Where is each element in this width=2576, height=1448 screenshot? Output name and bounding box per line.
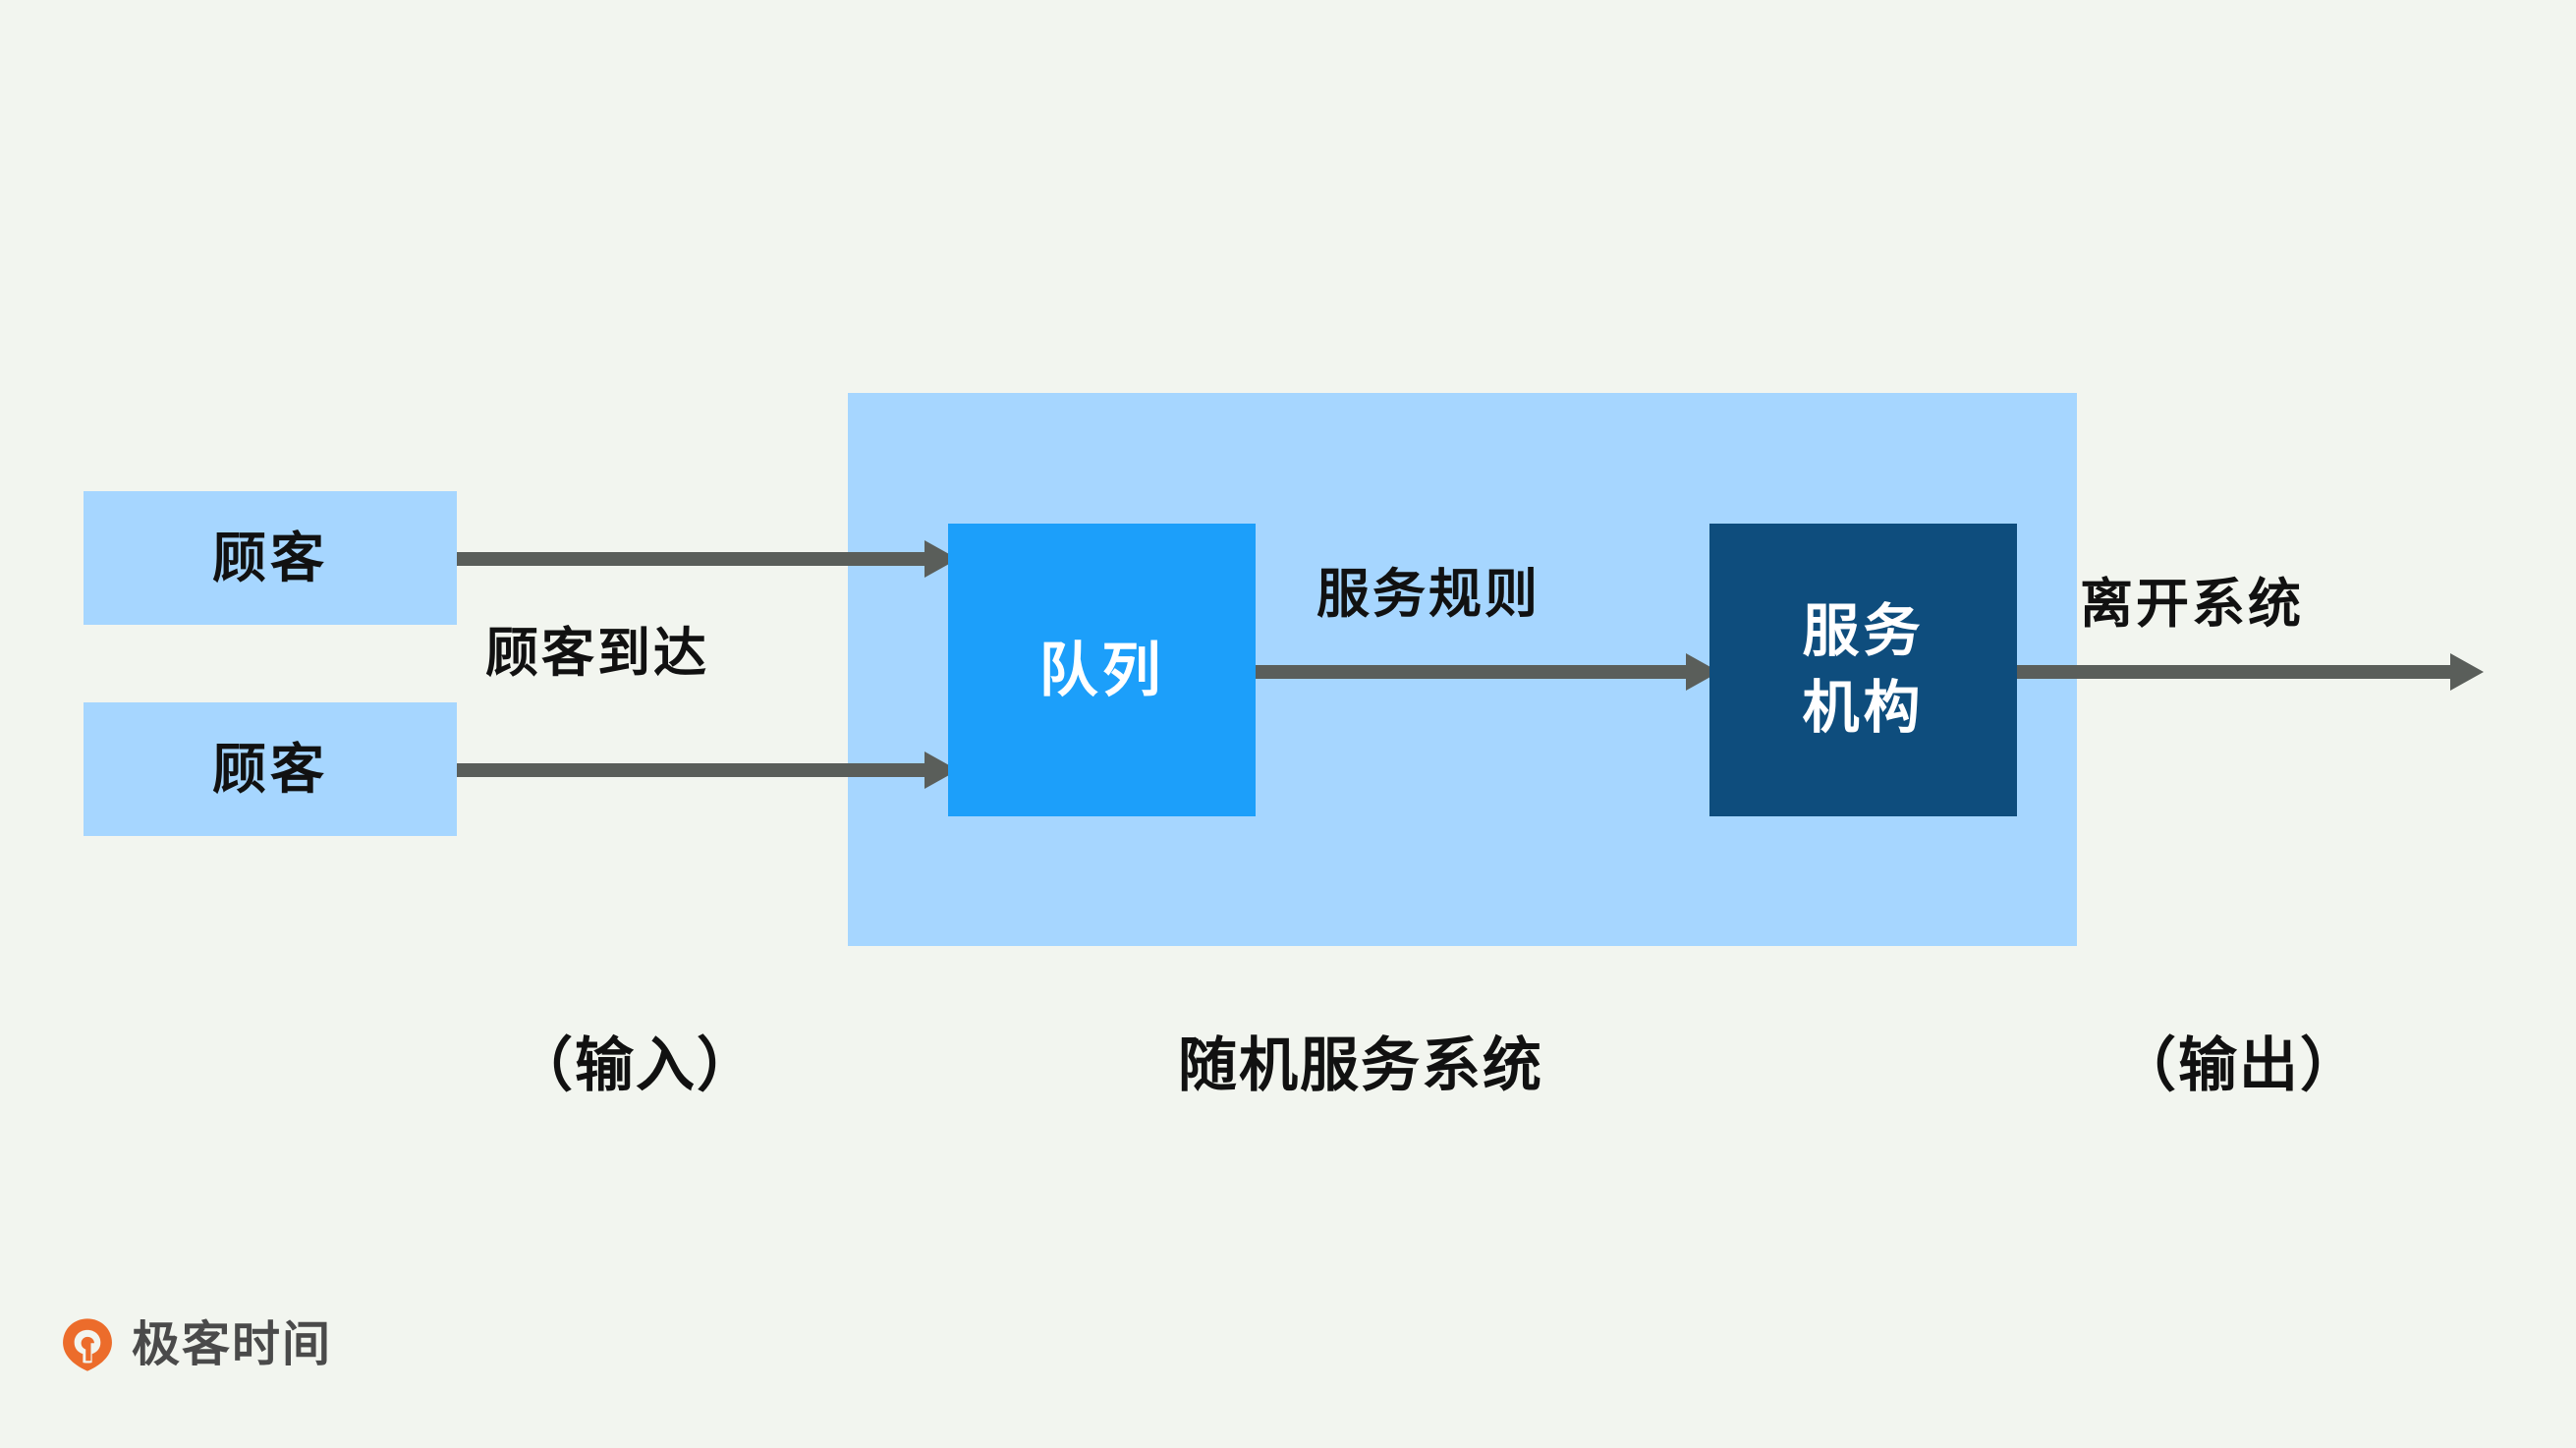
caption-random-service-system: 随机服务系统 <box>1178 1036 1543 1095</box>
caption-output: （输出） <box>2117 1036 2361 1095</box>
customer-box-2-label: 顾客 <box>212 743 328 797</box>
brand-name: 极客时间 <box>132 1321 332 1369</box>
flow-label-service-rule: 服务规则 <box>1316 568 1540 621</box>
geektime-logo-icon <box>59 1316 116 1373</box>
arrow-shaft <box>457 552 924 566</box>
brand-logo: 极客时间 <box>59 1316 332 1373</box>
arrow-shaft <box>2017 665 2450 679</box>
service-facility-label-line-2: 机构 <box>1802 670 1924 747</box>
flow-label-leave-system: 离开系统 <box>2080 578 2304 631</box>
queue-node: 队列 <box>948 524 1256 816</box>
queue-node-label: 队列 <box>1039 637 1165 704</box>
flow-label-customer-arrival: 顾客到达 <box>485 627 709 680</box>
customer-box-1-label: 顾客 <box>212 531 328 585</box>
arrow-head-icon <box>2450 653 2484 691</box>
arrow-shaft <box>1256 665 1686 679</box>
arrow-service-to-exit <box>2017 657 2484 687</box>
caption-input: （输入） <box>514 1036 757 1095</box>
service-facility-label-line-1: 服务 <box>1802 593 1924 670</box>
arrow-shaft <box>457 763 924 777</box>
arrow-customer-to-queue-top <box>457 544 958 574</box>
arrow-queue-to-service <box>1256 657 1719 687</box>
diagram-canvas: 顾客 顾客 顾客到达 队列 服务规则 服务 机构 离开系统 （输入） 随机服务系… <box>0 0 2576 1448</box>
arrow-customer-to-queue-bottom <box>457 755 958 785</box>
service-facility-node: 服务 机构 <box>1709 524 2017 816</box>
customer-box-2: 顾客 <box>84 702 457 836</box>
customer-box-1: 顾客 <box>84 491 457 625</box>
